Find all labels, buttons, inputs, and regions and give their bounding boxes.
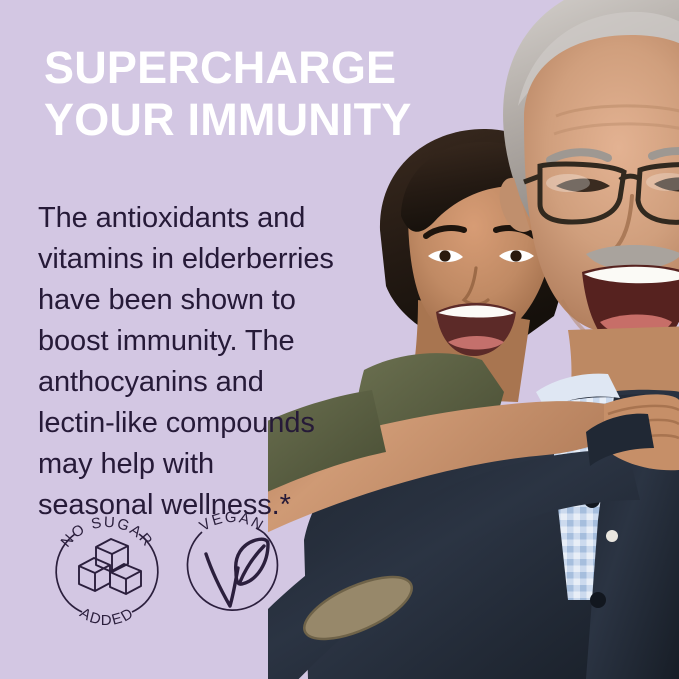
badge-no-sugar-added: NO SUGAR ADDED <box>48 502 166 639</box>
body-line-4: boost immunity. The <box>38 321 338 362</box>
headline: SUPERCHARGE YOUR IMMUNITY <box>44 42 464 146</box>
certification-badges: NO SUGAR ADDED <box>38 502 298 647</box>
badge-no-sugar-bottom-text: ADDED <box>77 604 138 629</box>
body-line-6: lectin-like compounds <box>38 403 338 444</box>
product-ad-banner: SUPERCHARGE YOUR IMMUNITY The antioxidan… <box>0 0 679 679</box>
body-line-1: The antioxidants and <box>38 198 338 239</box>
body-line-2: vitamins in elderberries <box>38 239 338 280</box>
badge-no-sugar-top-text: NO SUGAR <box>58 514 157 551</box>
body-line-3: have been shown to <box>38 280 338 321</box>
svg-text:NO SUGAR: NO SUGAR <box>58 514 157 551</box>
sugar-cubes-icon <box>79 539 141 594</box>
svg-text:ADDED: ADDED <box>77 604 138 629</box>
body-line-7: may help with <box>38 444 338 485</box>
svg-text:VEGAN: VEGAN <box>197 510 268 535</box>
badge-vegan-text: VEGAN <box>197 510 268 535</box>
headline-line-1: SUPERCHARGE <box>44 42 464 94</box>
leaf-sprout-icon <box>206 539 268 606</box>
body-line-5: anthocyanins and <box>38 362 338 403</box>
body-copy: The antioxidants and vitamins in elderbe… <box>38 198 338 526</box>
badge-vegan: VEGAN <box>176 510 288 633</box>
headline-line-2: YOUR IMMUNITY <box>44 94 464 146</box>
